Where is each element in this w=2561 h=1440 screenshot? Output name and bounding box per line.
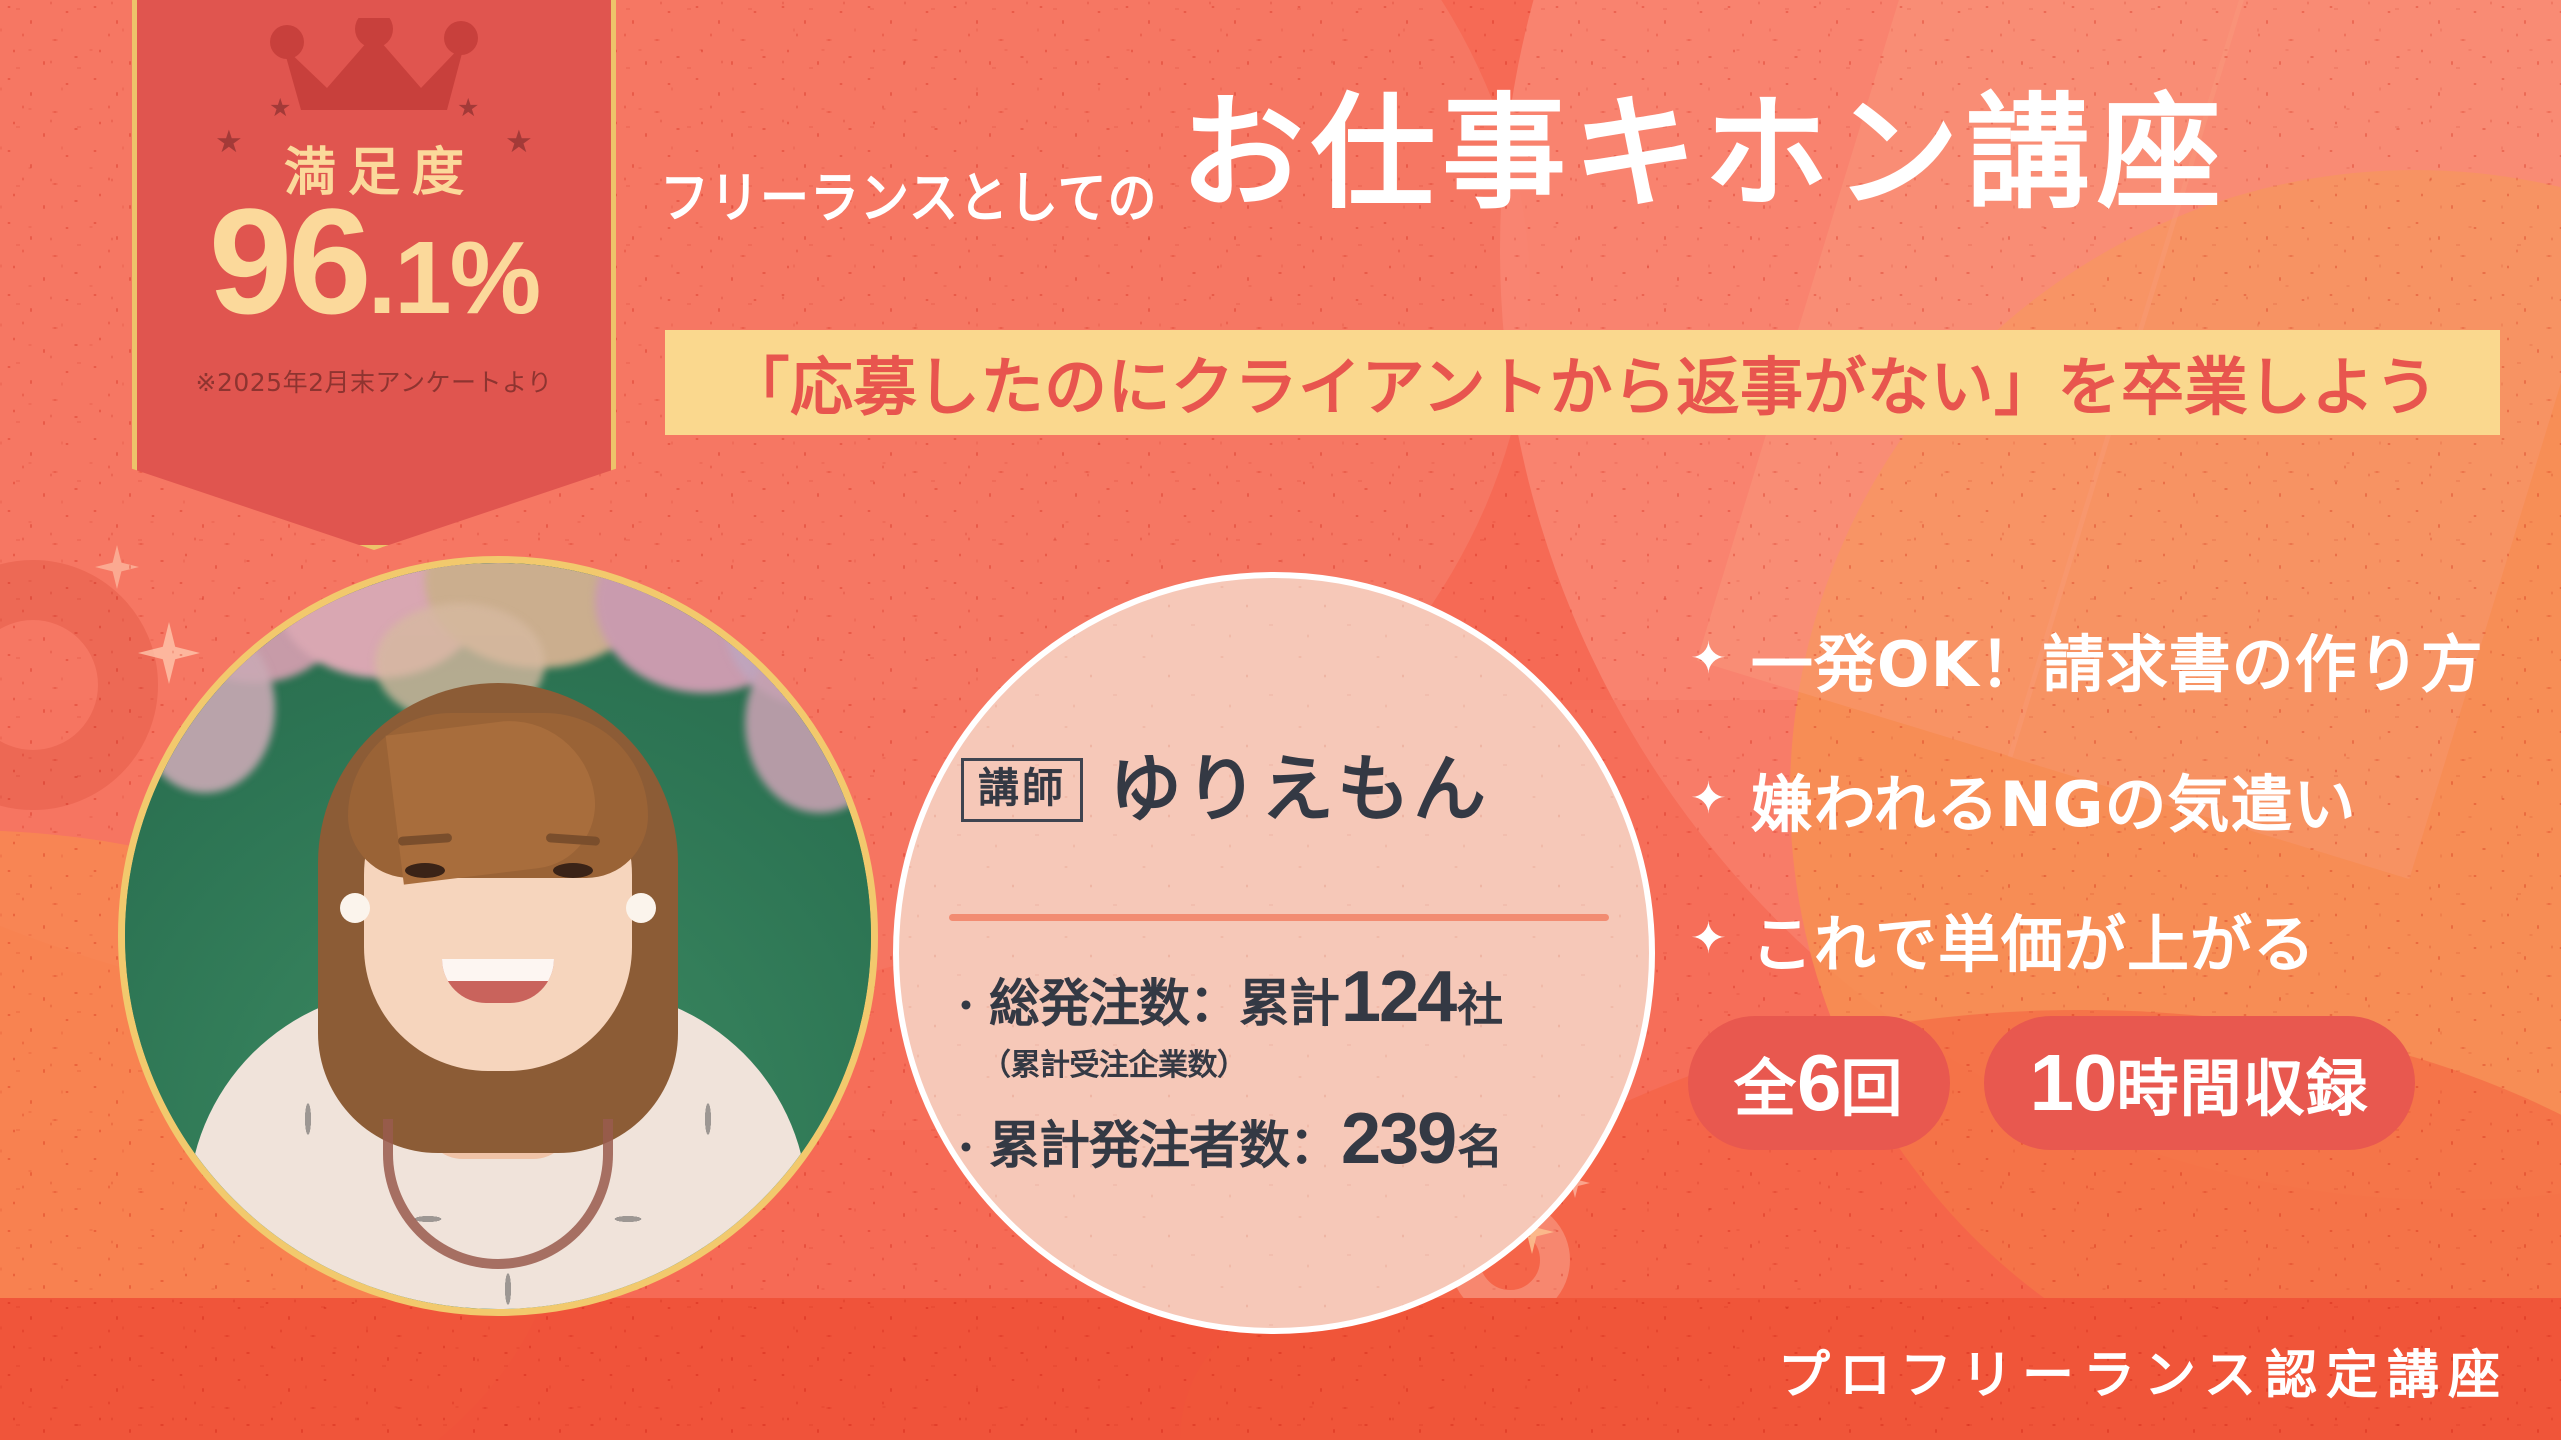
diamond-sparkle-icon: ✦ <box>1690 637 1727 681</box>
pill-suffix: 回 <box>1841 1038 1904 1128</box>
pill-duration: 10 時間収録 <box>1984 1016 2415 1150</box>
satisfaction-value: 96.1% <box>137 186 611 336</box>
pill-prefix: 全 <box>1734 1038 1797 1128</box>
satisfaction-badge: ★ ★ ★ ★ 満足度 96.1% ※2025年2月末アンケートより <box>132 0 616 550</box>
pill-number: 6 <box>1797 1037 1841 1129</box>
person-eye <box>405 863 445 878</box>
feature-item: ✦ 嫌われるNGの気遣い <box>1690 754 2484 844</box>
headline-kicker: フリーランスとしての <box>660 154 1158 234</box>
feature-label: 一発OK！請求書の作り方 <box>1751 614 2484 704</box>
instructor-card: 講師 ゆりえもん ・ 総発注数：累計 124 社 （累計受注企業数） ・ 累計発… <box>893 572 1655 1334</box>
diamond-sparkle-icon: ✦ <box>1690 777 1727 821</box>
instructor-role-tag: 講師 <box>961 758 1083 822</box>
stat-number: 124 <box>1341 956 1455 1038</box>
person-illustration <box>125 563 871 1309</box>
stat-row: ・ 総発注数：累計 124 社 <box>945 956 1635 1038</box>
headline-subtitle-band: 「応募したのにクライアントから返事がない」を卒業しよう <box>665 330 2500 435</box>
instructor-name: ゆりえもん <box>1109 753 1489 826</box>
stat-subnote: （累計受注企業数） <box>981 1040 1635 1084</box>
pill-number: 10 <box>2030 1037 2117 1129</box>
satisfaction-integer: 96 <box>209 177 368 345</box>
pill-suffix: 時間収録 <box>2117 1038 2369 1128</box>
stat-row: ・ 累計発注者数： 239 名 <box>945 1098 1635 1180</box>
person-teeth <box>442 959 554 981</box>
person-earring <box>340 893 370 923</box>
feature-label: 嫌われるNGの気遣い <box>1751 754 2357 844</box>
instructor-photo <box>118 556 878 1316</box>
feature-item: ✦ これで単価が上がる <box>1690 894 2484 984</box>
satisfaction-footnote: ※2025年2月末アンケートより <box>137 363 611 399</box>
headline-subtitle: 「応募したのにクライアントから返事がない」を卒業しよう <box>727 337 2439 428</box>
stat-bullet: ・ <box>945 1128 987 1170</box>
stat-unit: 名 <box>1457 1111 1503 1177</box>
instructor-divider <box>949 914 1609 921</box>
crown-icon <box>269 18 479 113</box>
page-title: お仕事キホン講座 <box>1180 92 2228 216</box>
promo-banner: ★ ★ ★ ★ 満足度 96.1% ※2025年2月末アンケートより フリーラン… <box>0 0 2561 1440</box>
person-earring <box>626 893 656 923</box>
stat-label: 累計発注者数： <box>989 1104 1339 1178</box>
stat-label: 総発注数：累計 <box>989 962 1339 1036</box>
person-eye <box>553 863 593 878</box>
instructor-header: 講師 ゆりえもん <box>961 753 1489 826</box>
feature-item: ✦ 一発OK！請求書の作り方 <box>1690 614 2484 704</box>
feature-list: ✦ 一発OK！請求書の作り方 ✦ 嫌われるNGの気遣い ✦ これで単価が上がる <box>1690 614 2484 1034</box>
stat-unit: 社 <box>1457 969 1503 1035</box>
stat-number: 239 <box>1341 1098 1455 1180</box>
star-icon: ★ <box>457 96 479 121</box>
course-meta-pills: 全 6 回 10 時間収録 <box>1688 1016 2415 1150</box>
brand-footer: プロフリーランス認定講座 <box>1778 1333 2509 1408</box>
diamond-sparkle-icon: ✦ <box>1690 917 1727 961</box>
star-icon: ★ <box>269 96 291 121</box>
satisfaction-decimal: .1% <box>368 220 539 335</box>
instructor-stats: ・ 総発注数：累計 124 社 （累計受注企業数） ・ 累計発注者数： 239 … <box>945 956 1635 1180</box>
instructor-card-texture <box>899 578 1649 1328</box>
stat-bullet: ・ <box>945 986 987 1028</box>
feature-label: これで単価が上がる <box>1751 894 2316 984</box>
pill-session-count: 全 6 回 <box>1688 1016 1950 1150</box>
